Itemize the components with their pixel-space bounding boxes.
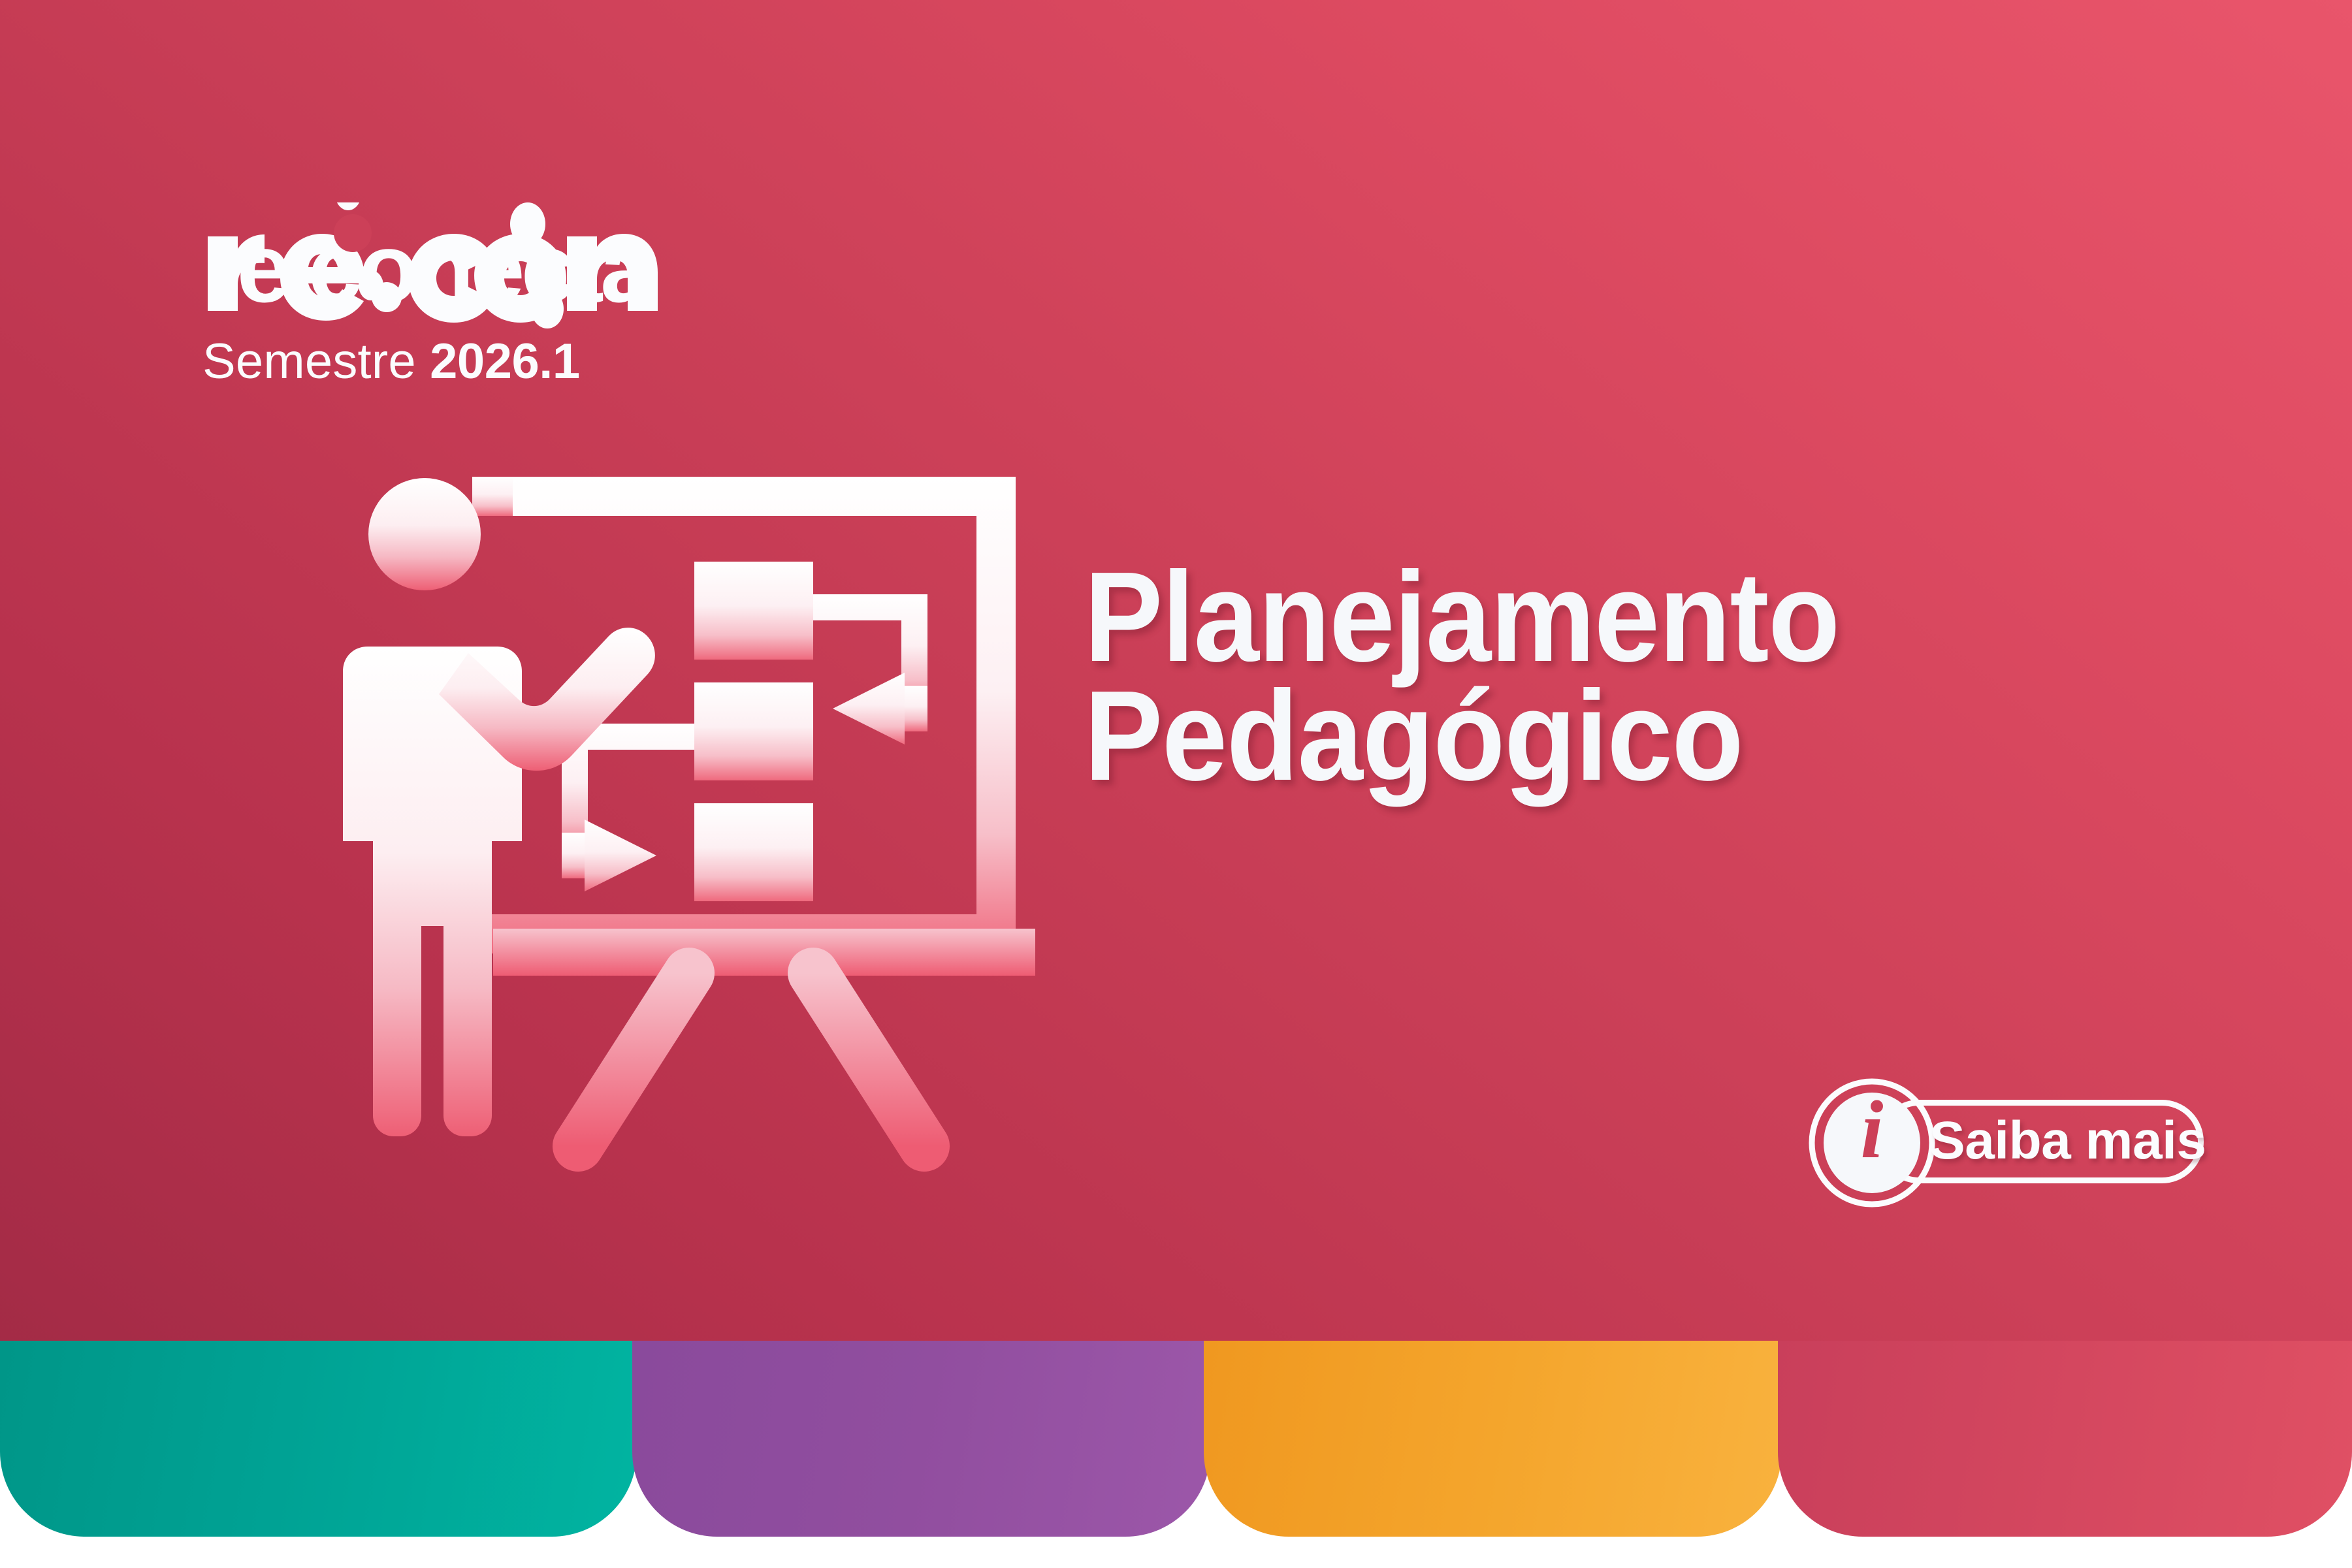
tab-red[interactable]	[1778, 1341, 2352, 1537]
presenter-figure	[322, 478, 655, 1136]
pedagogical-planning-illustration	[297, 457, 1042, 1189]
logo-person-head-icon	[335, 202, 361, 210]
tab-orange[interactable]	[1204, 1341, 1782, 1537]
easel-tripod	[493, 929, 1035, 1146]
cta-label: Saiba mais	[1929, 1110, 2204, 1172]
tab-purple[interactable]	[632, 1341, 1210, 1537]
semester-value: 2026.1	[430, 334, 579, 389]
promotional-banner: re.conecta Semestre 2026.1	[0, 0, 2352, 1568]
logo-text-dot: .	[287, 213, 308, 323]
tab-teal[interactable]	[0, 1341, 637, 1537]
saiba-mais-button[interactable]: i Saiba mais	[1807, 1078, 2212, 1208]
logo-text-mark: co	[308, 202, 414, 333]
headline-line-2: Pedagógico	[1084, 677, 2178, 795]
info-icon-glyph: i	[1807, 1089, 1937, 1172]
flowchart-square-top	[694, 562, 813, 660]
flowchart-square-bottom	[694, 803, 813, 901]
flowchart-square-middle	[694, 682, 813, 780]
bottom-color-tabs	[0, 1341, 2352, 1568]
info-icon: i	[1807, 1078, 1944, 1208]
logo-text-suffix: necta	[415, 213, 651, 323]
brand-logo-block: re.conecta Semestre 2026.1	[202, 202, 790, 387]
logo-text-prefix: re	[202, 213, 287, 323]
semester-label: Semestre	[202, 334, 416, 389]
semester-line: Semestre 2026.1	[202, 337, 790, 387]
page-title: Planejamento Pedagógico	[1084, 558, 2273, 795]
headline-line-1: Planejamento	[1084, 558, 2178, 676]
